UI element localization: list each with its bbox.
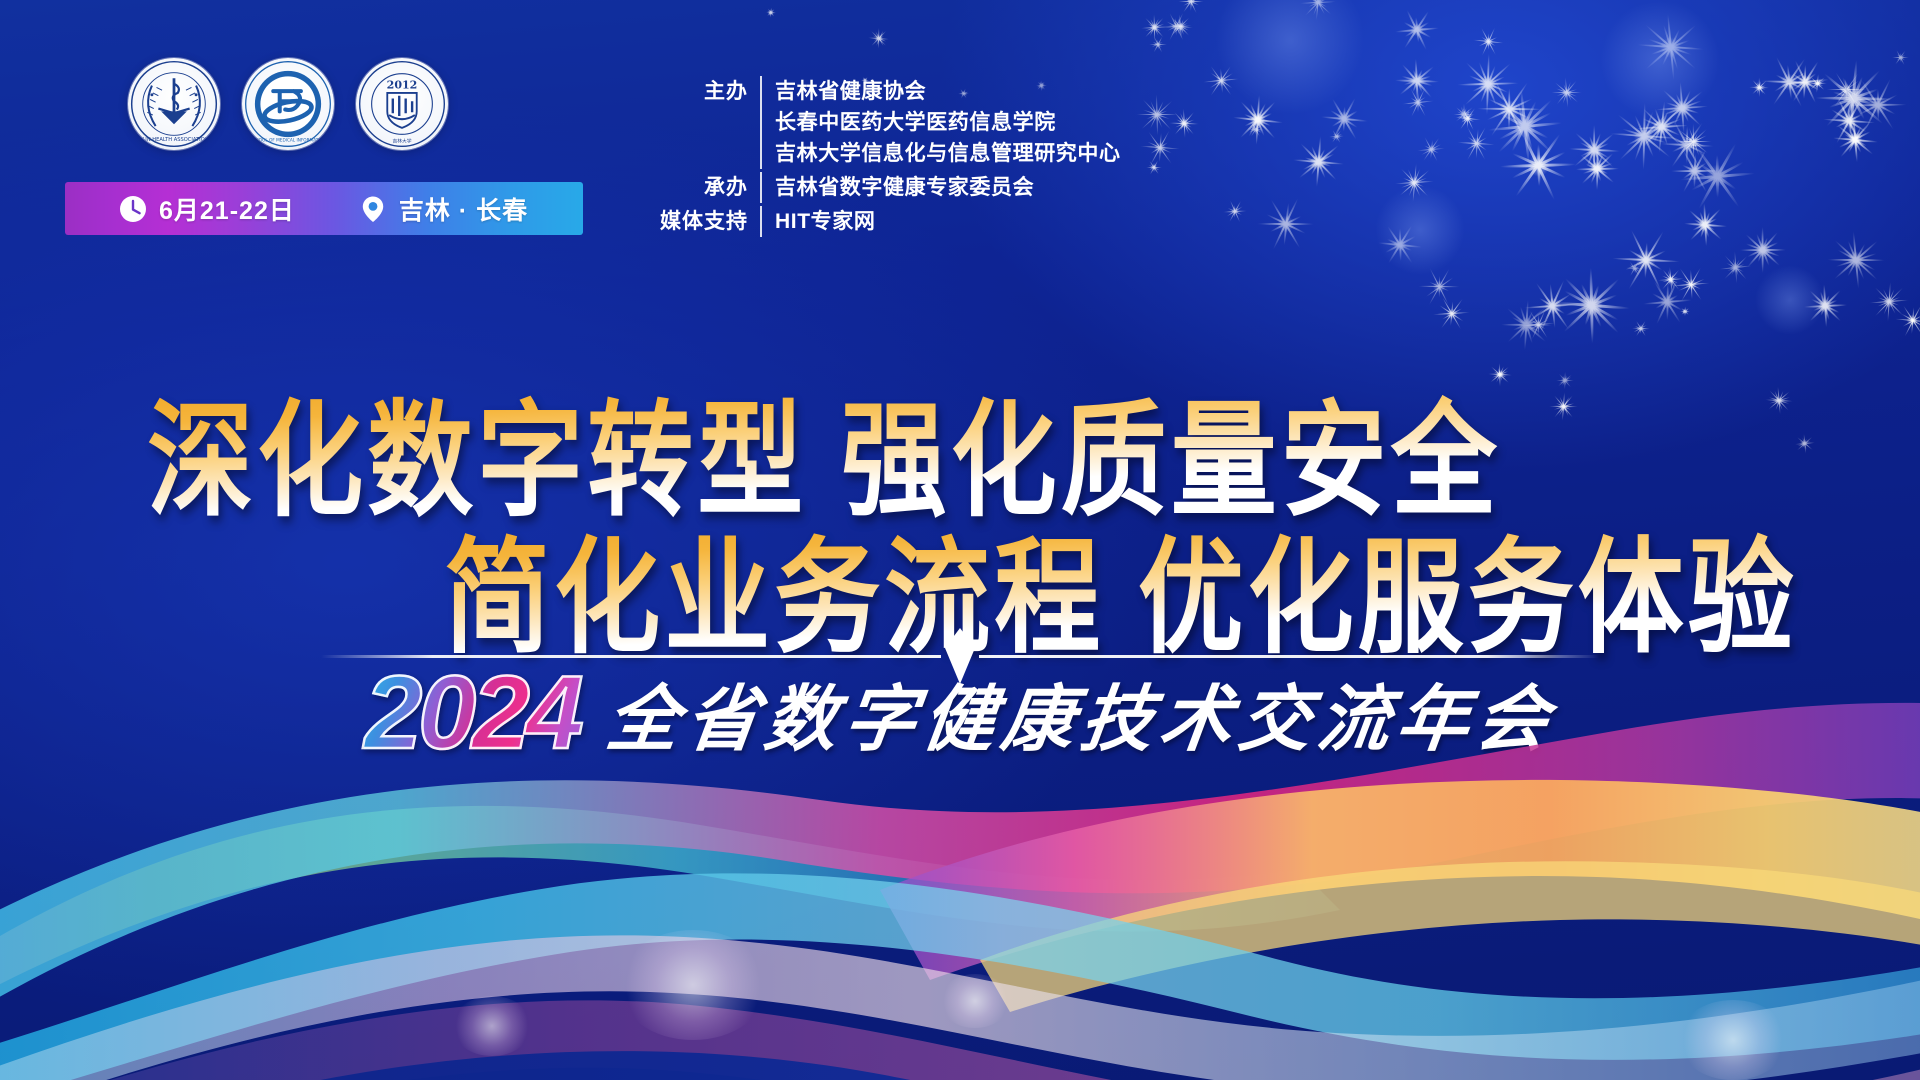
organizer-values: HIT专家网 — [775, 206, 875, 237]
organizer-row-media: 媒体支持 HIT专家网 — [648, 206, 1121, 237]
organizer-value: 长春中医药大学医药信息学院 — [775, 107, 1121, 138]
organizer-value: 吉林大学信息化与信息管理研究中心 — [775, 138, 1121, 169]
nebula-glow — [1375, 185, 1465, 275]
svg-text:JILIN HEALTH ASSOCIATION: JILIN HEALTH ASSOCIATION — [138, 137, 208, 143]
organizer-row-host: 主办 吉林省健康协会 长春中医药大学医药信息学院 吉林大学信息化与信息管理研究中… — [648, 76, 1121, 169]
nebula-glow — [1215, 0, 1365, 115]
date-location-bar: 6月21-22日 吉林 · 长春 — [65, 182, 583, 235]
wave-graphic — [0, 660, 1920, 1080]
date-group: 6月21-22日 — [119, 191, 295, 227]
conference-poster: JILIN HEALTH ASSOCIATION SCHOOL OF MEDIC… — [0, 0, 1920, 1080]
organizer-label: 承办 — [648, 172, 760, 203]
organizer-block: 主办 吉林省健康协会 长春中医药大学医药信息学院 吉林大学信息化与信息管理研究中… — [648, 76, 1121, 237]
organizer-divider — [760, 206, 762, 237]
location-group: 吉林 · 长春 — [359, 191, 528, 227]
organizer-divider — [760, 172, 762, 203]
headline-line-1: 深化数字转型 强化质量安全 — [147, 392, 1500, 532]
school-of-medical-information-logo: SCHOOL OF MEDICAL INFORMATION — [242, 58, 334, 150]
organizer-divider — [760, 76, 762, 169]
svg-text:SCHOOL OF MEDICAL INFORMATION: SCHOOL OF MEDICAL INFORMATION — [250, 138, 326, 143]
organizer-values: 吉林省健康协会 长春中医药大学医药信息学院 吉林大学信息化与信息管理研究中心 — [775, 76, 1121, 169]
clock-icon — [119, 195, 147, 223]
organizer-row-coorganizer: 承办 吉林省数字健康专家委员会 — [648, 172, 1121, 203]
organizer-value: 吉林省健康协会 — [775, 76, 1121, 107]
headline: 深化数字转型 强化质量安全 简化业务流程 优化服务体验 — [0, 392, 1920, 647]
organizer-value: 吉林省数字健康专家委员会 — [775, 172, 1034, 203]
logo-row: JILIN HEALTH ASSOCIATION SCHOOL OF MEDIC… — [128, 58, 448, 150]
organizer-value: HIT专家网 — [775, 206, 875, 237]
divider-rule-right — [979, 655, 1599, 658]
svg-text:2012: 2012 — [387, 78, 418, 91]
location-pin-icon — [359, 195, 387, 223]
svg-text:吉林大学: 吉林大学 — [392, 138, 411, 145]
organizer-label: 媒体支持 — [648, 206, 760, 237]
nebula-glow — [1600, 0, 1720, 120]
jilin-university-research-center-logo: 2012 吉林大学 — [356, 58, 448, 150]
nebula-glow — [1755, 265, 1825, 335]
organizer-values: 吉林省数字健康专家委员会 — [775, 172, 1034, 203]
organizer-label: 主办 — [648, 76, 760, 107]
location-text: 吉林 · 长春 — [399, 191, 528, 227]
date-text: 6月21-22日 — [159, 191, 295, 227]
jilin-health-association-logo: JILIN HEALTH ASSOCIATION — [128, 58, 220, 150]
